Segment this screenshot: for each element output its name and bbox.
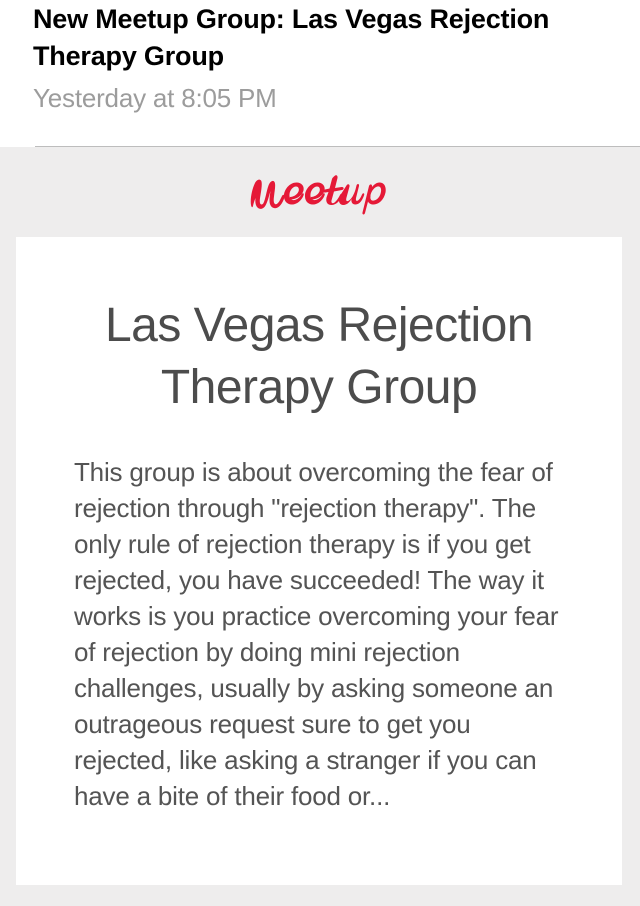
group-title: Las Vegas Rejection Therapy Group: [74, 295, 564, 419]
meetup-logo-link[interactable]: [247, 169, 393, 215]
notification-subject: New Meetup Group: Las Vegas Rejection Th…: [33, 1, 593, 75]
group-description: This group is about overcoming the fear …: [74, 419, 564, 814]
email-message-body: Las Vegas Rejection Therapy Group This g…: [0, 147, 640, 906]
meetup-logo-icon: [247, 169, 393, 215]
brand-bar: [0, 147, 640, 237]
notification-timestamp: Yesterday at 8:05 PM: [33, 82, 277, 114]
group-card: Las Vegas Rejection Therapy Group This g…: [16, 237, 622, 885]
notification-header: New Meetup Group: Las Vegas Rejection Th…: [0, 0, 640, 147]
